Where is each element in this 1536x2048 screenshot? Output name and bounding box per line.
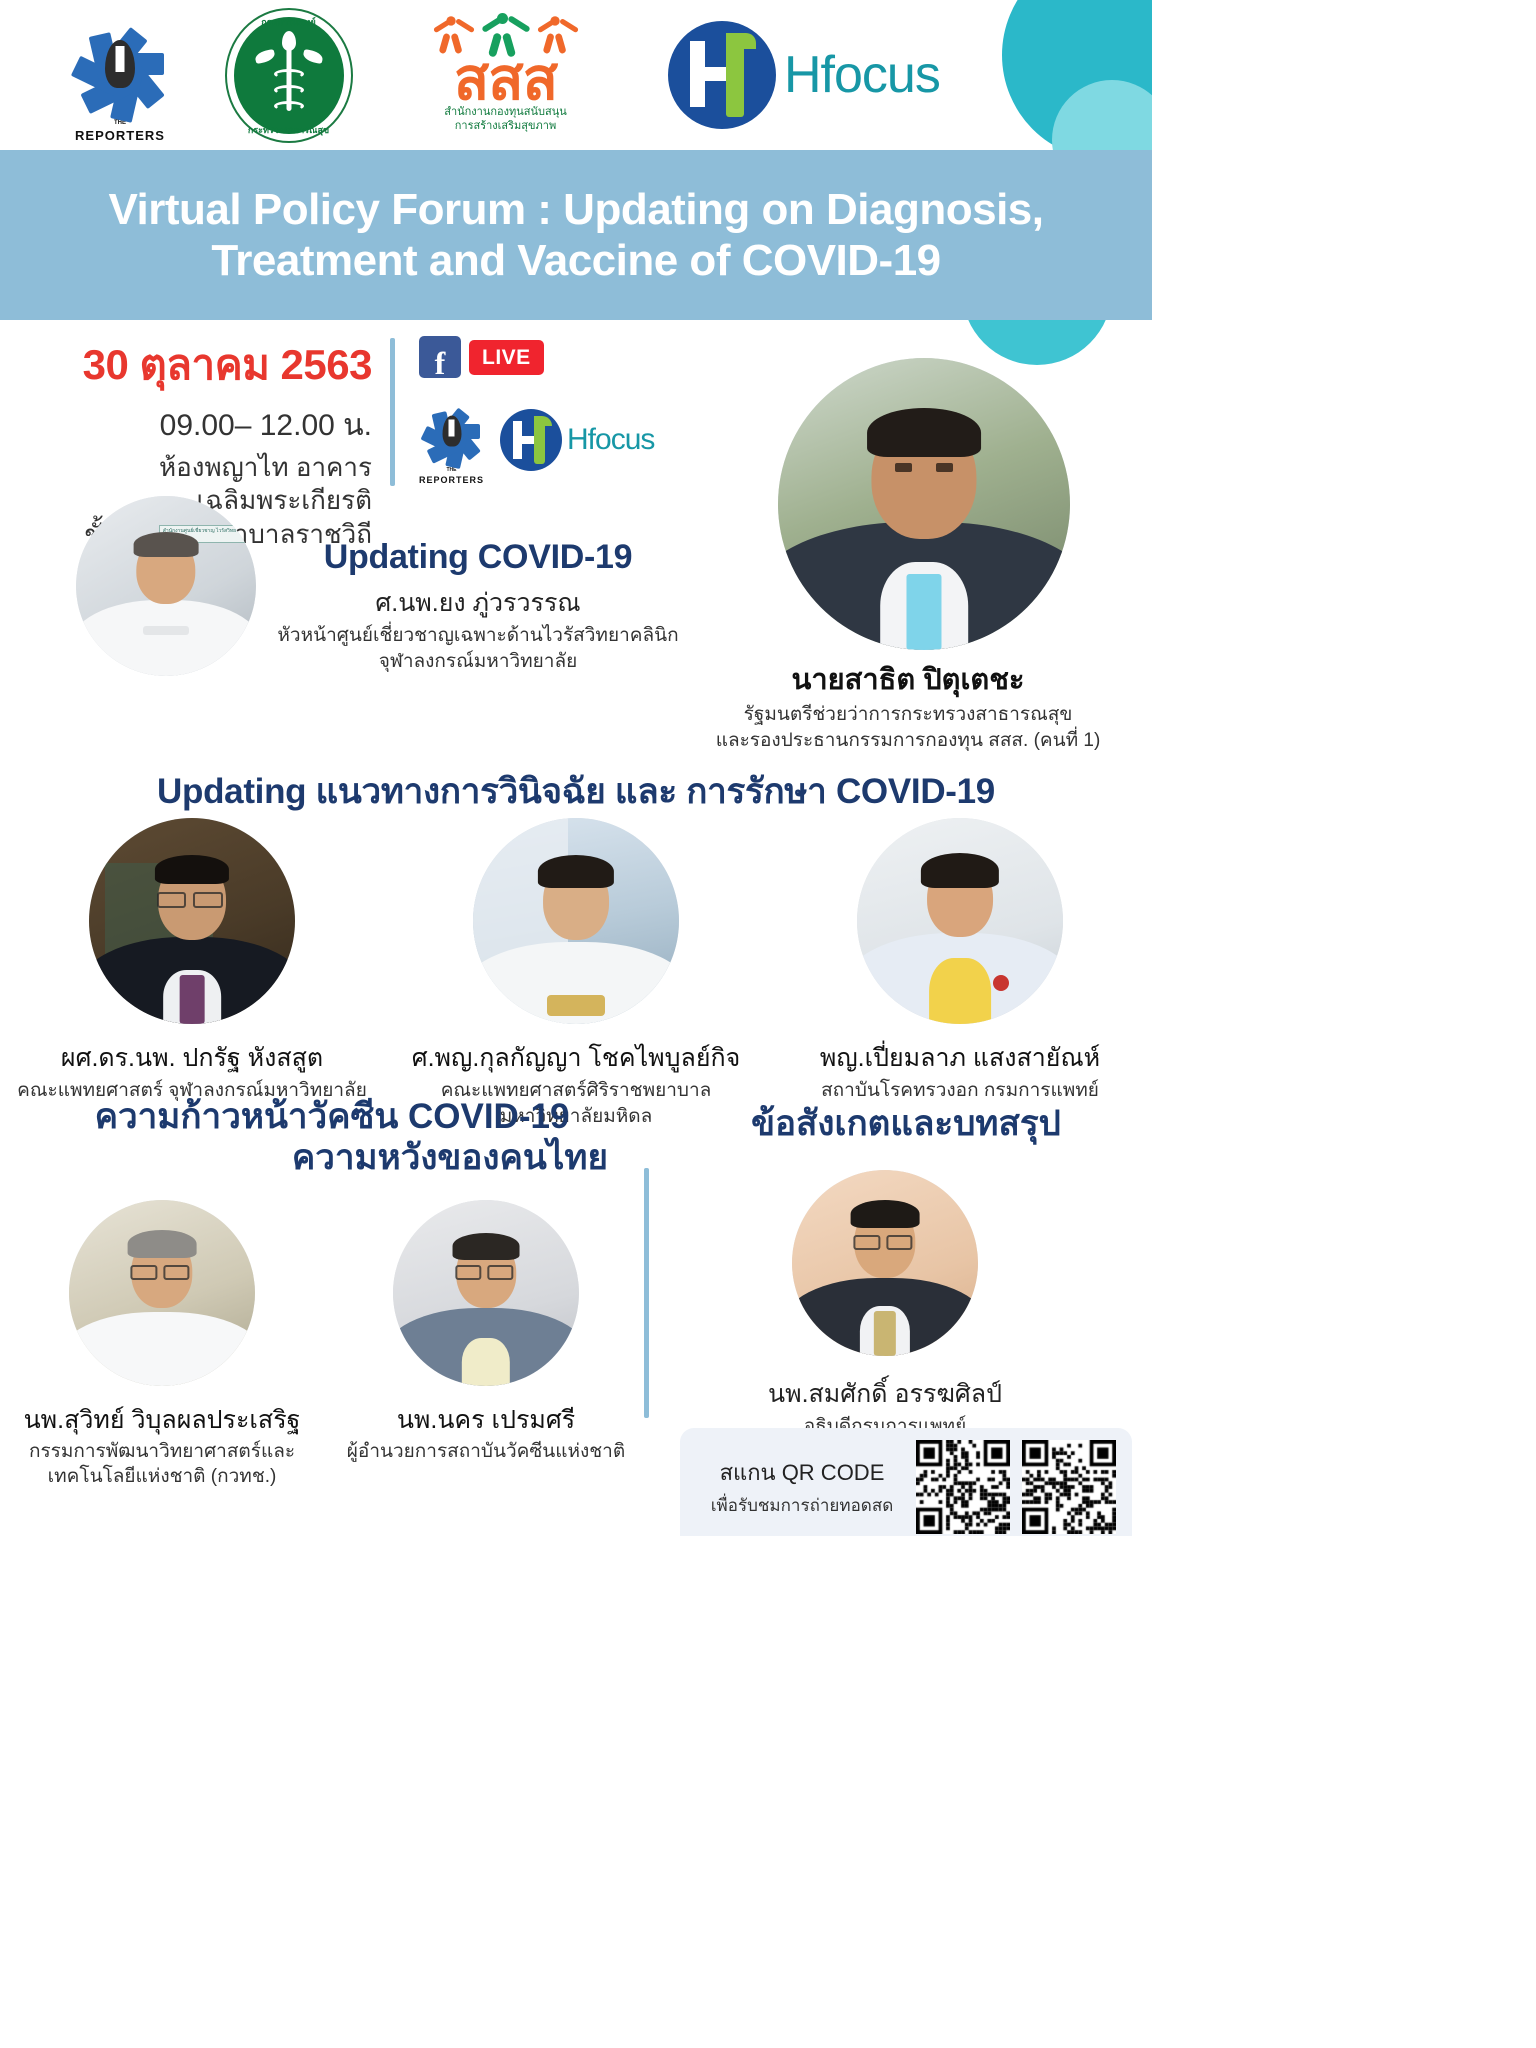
panel-speakers-row: ผศ.ดร.นพ. ปกรัฐ หังสสูต คณะแพทยศาสตร์ จุ… [0,818,1152,1129]
hfocus-mark-icon [500,409,562,471]
speaker-photo-yong: สำนักงานศูนย์เชี่ยวชาญ ไวรัสวิทยาคลินิก [76,496,256,676]
thaihealth-sub-line1: สำนักงานกองทุนสนับสนุน [444,106,567,120]
event-date: 30 ตุลาคม 2563 [0,332,372,398]
speaker-name: นายสาธิต ปิตุเตชะ [668,656,1148,702]
speaker-photo-somsak [792,1170,978,1356]
the-reporters-the: THE [447,468,457,473]
speaker-card: นพ.สุวิทย์ วิบุลผลประเสริฐ กรรมการพัฒนาว… [0,1200,324,1489]
dms-logo: กรมการแพทย์ กระทรวงสาธารณสุข [216,5,361,145]
facebook-live-badge[interactable]: f LIVE [419,336,654,378]
thaihealth-logo: สสส สำนักงานกองทุนสนับสนุน การสร้างเสริม… [403,3,608,148]
speaker-block-yong: Updating COVID-19 ศ.นพ.ยง ภู่วรวรรณ หัวห… [268,538,688,674]
speaker-card: นพ.นคร เปรมศรี ผู้อำนวยการสถาบันวัคซีนแห… [324,1200,648,1489]
speaker-block-sathit: นายสาธิต ปิตุเตชะ รัฐมนตรีช่วยว่าการกระท… [668,656,1148,753]
speaker-role-line1: กรรมการพัฒนาวิทยาศาสตร์และ [29,1440,295,1465]
qr-code-2[interactable] [1022,1440,1116,1534]
event-time: 09.00– 12.00 น. [0,402,372,449]
the-reporters-mini-logo: THE REPORTERS [419,394,484,485]
camera-iris-icon [72,8,168,120]
hfocus-mark-icon [668,21,776,129]
poster-root: THE REPORTERS กรมการแพทย์ กระทรวงสาธารณส… [0,0,1152,1536]
section-title-vaccine-progress: ความก้าวหน้าวัคซีน COVID-19 ความหวังของค… [22,1096,642,1179]
speaker-role-line1: หัวหน้าศูนย์เชี่ยวชาญเฉพาะด้านไวรัสวิทยา… [268,624,688,649]
the-reporters-logo: THE REPORTERS [60,8,180,143]
section-title-line2: ความหวังของคนไทย [22,1137,642,1178]
the-reporters-wordmark: REPORTERS [419,475,484,485]
dms-seal-top-text: กรมการแพทย์ [227,15,351,29]
facebook-icon[interactable]: f [419,336,461,378]
speaker-photo-piamlarp [857,818,1063,1024]
section-title-line1: ความก้าวหน้าวัคซีน COVID-19 [22,1096,642,1137]
page-title: Virtual Policy Forum : Updating on Diagn… [109,184,1044,287]
speaker-card: พญ.เปี่ยมลาภ แสงสายัณห์ สถาบันโรคทรวงอก … [768,818,1152,1129]
qr-code-panel: สแกน QR CODE เพื่อรับชมการถ่ายทอดสด [680,1428,1132,1536]
section-title-updating-covid: Updating COVID-19 [268,538,688,577]
speaker-photo-suwit [69,1200,255,1386]
hfocus-mini-logo: Hfocus [500,409,654,471]
broadcast-partner-logos: THE REPORTERS Hfocus [419,394,654,485]
live-badge: LIVE [469,340,544,375]
camera-iris-icon [421,394,483,468]
speaker-name: ศ.พญ.กุลกัญญา โชคไพบูลย์กิจ [412,1038,741,1078]
title-line-2: Treatment and Vaccine of COVID-19 [211,236,940,285]
thaihealth-sub-line2: การสร้างเสริมสุขภาพ [444,120,567,134]
speaker-name: นพ.สมศักดิ์ อรรฆศิลป์ [660,1374,1110,1414]
hfocus-wordmark: Hfocus [567,423,654,457]
dms-seal-icon: กรมการแพทย์ กระทรวงสาธารณสุข [225,8,353,143]
hfocus-logo: Hfocus [668,21,940,129]
sponsor-logo-bar: THE REPORTERS กรมการแพทย์ กระทรวงสาธารณส… [0,0,1152,150]
qr-label-line1: สแกน QR CODE [700,1455,904,1490]
qr-code-1[interactable] [916,1440,1010,1534]
speaker-card: ผศ.ดร.นพ. ปกรัฐ หังสสูต คณะแพทยศาสตร์ จุ… [0,818,384,1129]
section-title-observations: ข้อสังเกตและบทสรุป [660,1096,1152,1151]
title-banner: Virtual Policy Forum : Updating on Diagn… [0,150,1152,320]
speaker-name: นพ.นคร เปรมศรี [397,1400,575,1440]
speaker-role-line1: รัฐมนตรีช่วยว่าการกระทรวงสาธารณสุข [668,703,1148,728]
the-reporters-wordmark: REPORTERS [75,128,165,143]
speaker-role-line2: จุฬาลงกรณ์มหาวิทยาลัย [268,650,688,675]
hfocus-wordmark: Hfocus [784,45,940,105]
speaker-photo-sathit [778,358,1070,650]
thaihealth-wordmark: สสส [454,55,557,104]
qr-label-line2: เพื่อรับชมการถ่ายทอดสด [700,1492,904,1519]
pen-nib-icon [442,416,461,447]
speaker-name: ผศ.ดร.นพ. ปกรัฐ หังสสูต [61,1038,323,1078]
section-title-guidelines: Updating แนวทางการวินิจฉัย และ การรักษา … [0,764,1152,819]
speaker-role-line2: และรองประธานกรรมการกองทุน สสส. (คนที่ 1) [668,729,1148,754]
thaihealth-people-icon [431,13,581,57]
title-line-1: Virtual Policy Forum : Updating on Diagn… [109,185,1044,234]
caduceus-icon [267,35,311,115]
speaker-card: ศ.พญ.กุลกัญญา โชคไพบูลย์กิจ คณะแพทยศาสตร… [384,818,768,1129]
dms-seal-bottom-text: กระทรวงสาธารณสุข [227,123,351,137]
speaker-role-line2: เทคโนโลยีแห่งชาติ (กวทช.) [48,1465,277,1490]
vaccine-speakers-row: นพ.สุวิทย์ วิบุลผลประเสริฐ กรรมการพัฒนาว… [0,1200,648,1489]
qr-label: สแกน QR CODE เพื่อรับชมการถ่ายทอดสด [700,1455,904,1519]
speaker-name: พญ.เปี่ยมลาภ แสงสายัณห์ [820,1038,1100,1078]
speaker-photo-nakorn [393,1200,579,1386]
speaker-name: ศ.นพ.ยง ภู่วรวรรณ [268,583,688,623]
speaker-photo-pokrath [89,818,295,1024]
speaker-role-line1: ผู้อำนวยการสถาบันวัคซีนแห่งชาติ [347,1440,625,1465]
speaker-name: นพ.สุวิทย์ วิบุลผลประเสริฐ [24,1400,301,1440]
speaker-photo-kulkanya [473,818,679,1024]
